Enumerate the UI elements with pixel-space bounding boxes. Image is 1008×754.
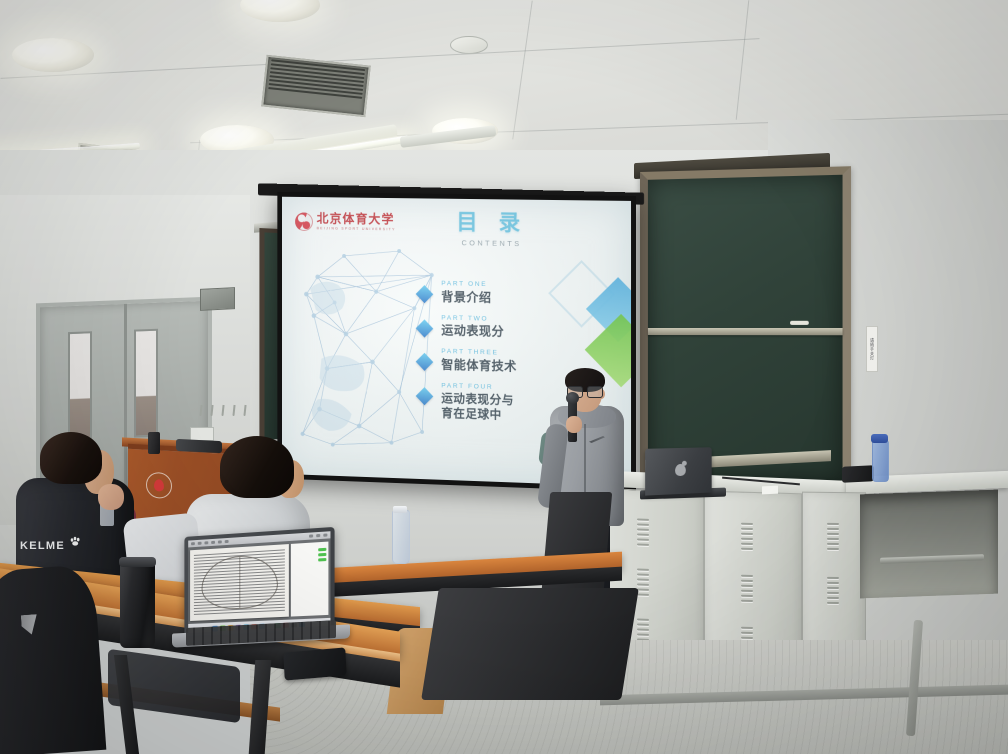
laptop-screen[interactable] — [188, 531, 330, 635]
microphone-head-icon — [566, 392, 579, 404]
chalkboard-divider — [648, 328, 843, 335]
document-viewer[interactable] — [188, 538, 330, 624]
blue-water-bottle — [872, 440, 889, 482]
tumbler-lid — [119, 557, 156, 567]
air-vent — [261, 55, 370, 117]
door-window — [68, 331, 92, 440]
document-sidebar[interactable] — [290, 542, 328, 617]
diamond-bullet-icon — [416, 387, 434, 405]
dark-object-on-counter — [842, 465, 874, 483]
part-text: 背景介绍 — [441, 290, 601, 308]
wall-sign: 请随手关灯 — [866, 326, 878, 372]
bottle-cap — [393, 506, 407, 513]
apple-logo-icon — [675, 464, 686, 476]
ceiling-downlight — [240, 0, 320, 22]
university-emblem-icon — [295, 212, 313, 231]
smoke-detector-icon — [450, 36, 488, 54]
diamond-bullet-icon — [416, 353, 434, 371]
ceiling-downlight — [12, 38, 94, 72]
classroom-scene: 请随手关灯 北京体育大学 BEIJING SPORT UNIVERSITY 目 … — [0, 0, 1008, 754]
logo-chinese-name: 北京体育大学 — [317, 213, 396, 226]
chalkboard — [640, 166, 851, 490]
lectern-macbook[interactable] — [645, 447, 712, 495]
black-tumbler — [120, 560, 155, 648]
document-page — [190, 544, 288, 621]
jacket-logo-icon — [21, 614, 38, 635]
coat-hooks — [200, 405, 252, 417]
wall-speaker-icon — [200, 287, 235, 311]
contents-item: PART TWO 运动表现分 — [416, 315, 601, 343]
kelme-brand-text: KELME — [20, 540, 65, 552]
presenter-hand — [566, 416, 582, 433]
student-hair — [220, 436, 294, 498]
student-hands — [98, 484, 124, 510]
slide-title-block: 目 录 CONTENTS — [424, 212, 560, 249]
paper-on-desk — [762, 486, 778, 495]
logo-english-name: BEIJING SPORT UNIVERSITY — [317, 227, 396, 232]
diamond-bullet-icon — [416, 285, 434, 303]
contents-item: PART ONE 背景介绍 — [416, 281, 601, 308]
smartphone[interactable] — [283, 647, 346, 680]
chalk-piece — [790, 321, 809, 325]
chair-back[interactable] — [421, 588, 639, 700]
open-shelf — [860, 490, 998, 599]
bottle-cap — [871, 434, 888, 443]
status-badges — [318, 548, 326, 562]
university-logo: 北京体育大学 BEIJING SPORT UNIVERSITY — [295, 212, 396, 232]
door-window — [134, 329, 158, 438]
part-text: 运动表现分 — [441, 324, 601, 342]
foreground-person — [0, 564, 106, 754]
clear-water-bottle — [392, 510, 410, 564]
diamond-bullet-icon — [416, 319, 434, 337]
student-hair — [40, 432, 102, 484]
paw-print-icon — [70, 536, 81, 546]
slide-title-cn: 目 录 — [424, 212, 560, 236]
